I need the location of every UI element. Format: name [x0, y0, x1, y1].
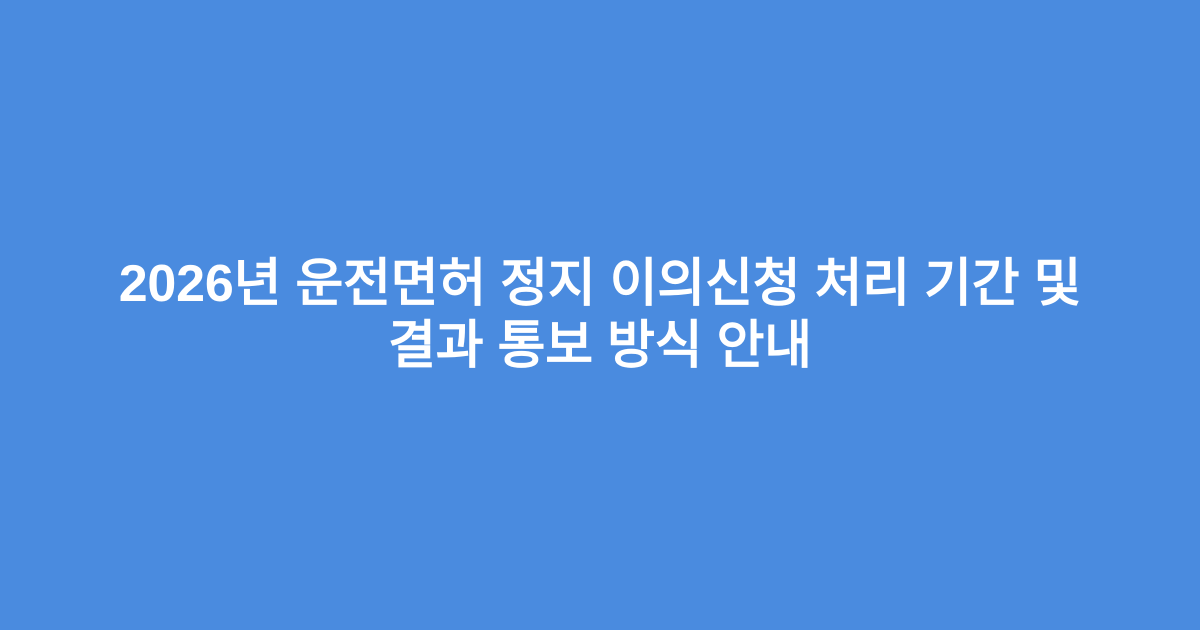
page-title: 2026년 운전면허 정지 이의신청 처리 기간 및 결과 통보 방식 안내	[70, 253, 1130, 377]
social-card-canvas: 2026년 운전면허 정지 이의신청 처리 기간 및 결과 통보 방식 안내	[0, 0, 1200, 630]
